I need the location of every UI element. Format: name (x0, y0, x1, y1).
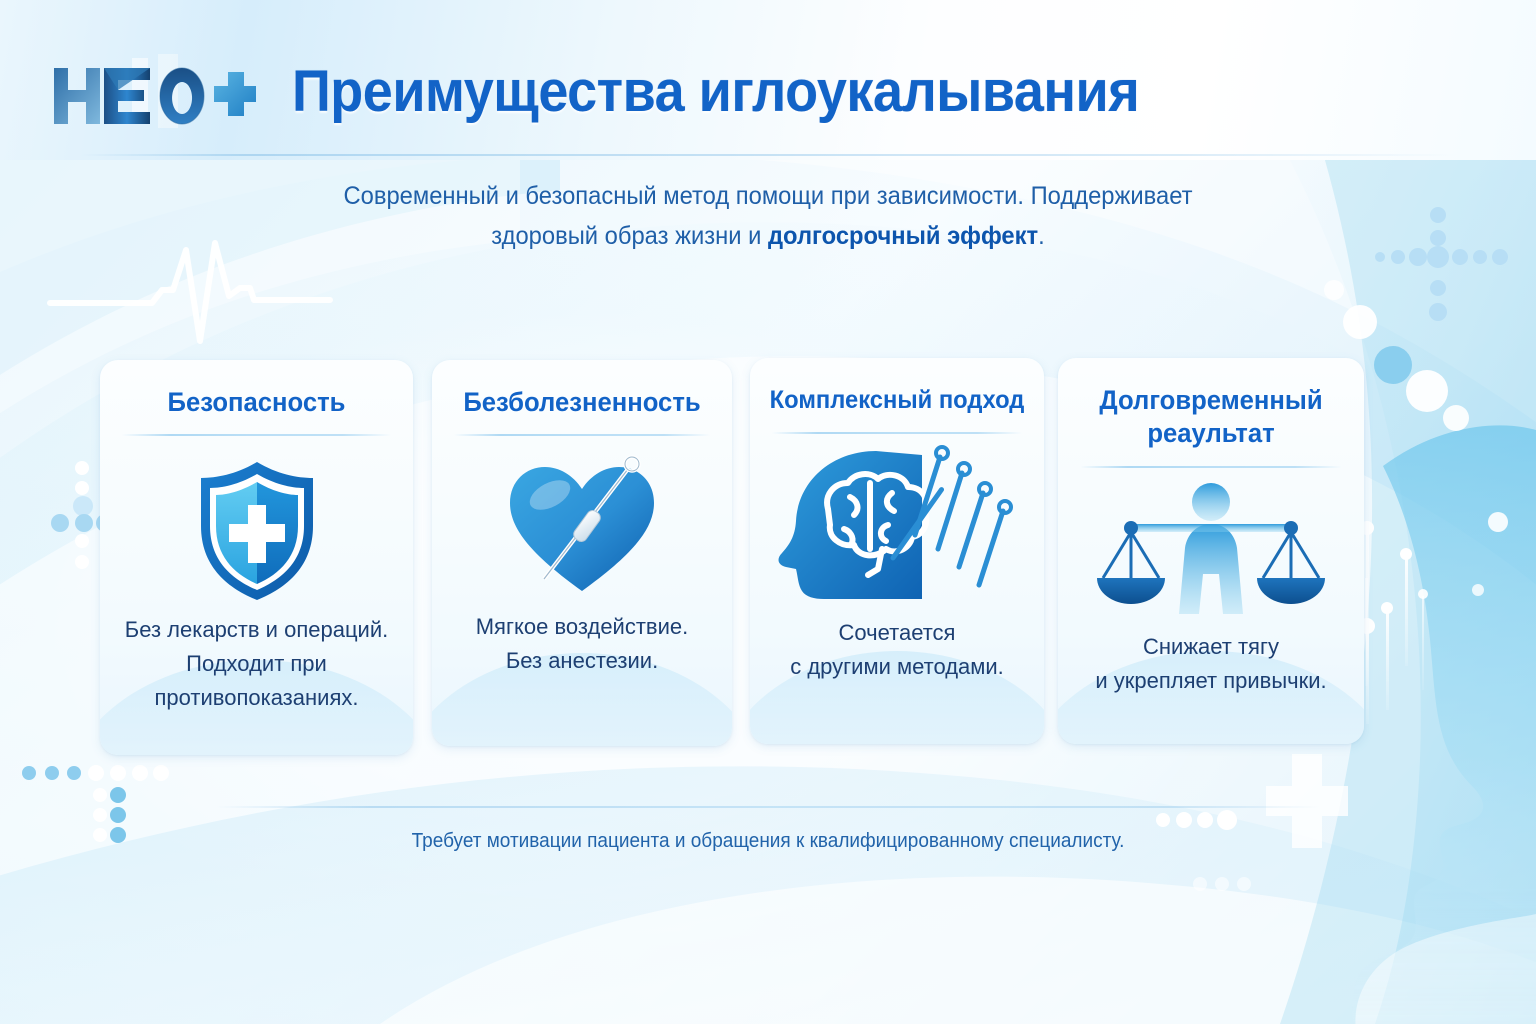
card-lasting-result-divider (1080, 466, 1342, 468)
card-painless-line-1: Мягкое воздействие. (476, 614, 689, 639)
card-lasting-result[interactable]: Долговременный реаультат (1058, 358, 1364, 744)
head-brain-needles-icon (750, 444, 1044, 604)
balance-scales-person-icon (1058, 476, 1364, 626)
footer-note: Требует мотивации пациента и обращения к… (293, 826, 1243, 856)
infographic-canvas: Преимущества иглоукалывания Современный … (0, 0, 1536, 1024)
page-title: Преимущества иглоукалывания (292, 58, 1139, 125)
card-complex-approach-title: Комплексный подход (757, 384, 1036, 417)
card-safety-line-1: Без лекарств и операций. (125, 617, 388, 642)
card-complex-approach-text: Сочетается с другими методами. (760, 616, 1034, 684)
card-complex-approach-divider (772, 432, 1022, 434)
card-painless-line-2: Без анестезии. (506, 648, 658, 673)
card-safety-line-2: Подходит при (186, 651, 327, 676)
card-complex-approach-line-2: с другими методами. (790, 654, 1004, 679)
card-lasting-result-line-2: и укрепляет привычки. (1095, 668, 1326, 693)
card-painless-title: Безболезненность (440, 386, 725, 419)
card-painless[interactable]: Безболезненность (432, 360, 732, 746)
heart-needle-icon (432, 450, 732, 602)
card-lasting-result-line-1: Снижает тягу (1143, 634, 1279, 659)
card-lasting-result-text: Снижает тягу и укрепляет привычки. (1068, 630, 1354, 698)
card-safety[interactable]: Безопасность (100, 360, 413, 755)
card-complex-approach[interactable]: Комплексный подход (750, 358, 1044, 744)
shield-cross-icon (100, 456, 413, 606)
card-lasting-result-title: Долговременный реаультат (1066, 384, 1357, 450)
card-safety-line-3: противопоказаниях. (155, 685, 359, 710)
footer-divider (216, 806, 1320, 808)
benefit-cards: Безопасность (0, 0, 1536, 1024)
card-complex-approach-line-1: Сочетается (839, 620, 956, 645)
card-safety-text: Без лекарств и операций. Подходит при пр… (110, 613, 403, 715)
brand-logo[interactable] (46, 46, 256, 132)
card-painless-divider (454, 434, 710, 436)
card-safety-divider (122, 434, 391, 436)
card-safety-title: Безопасность (108, 386, 405, 419)
card-painless-text: Мягкое воздействие. Без анестезии. (442, 610, 722, 678)
